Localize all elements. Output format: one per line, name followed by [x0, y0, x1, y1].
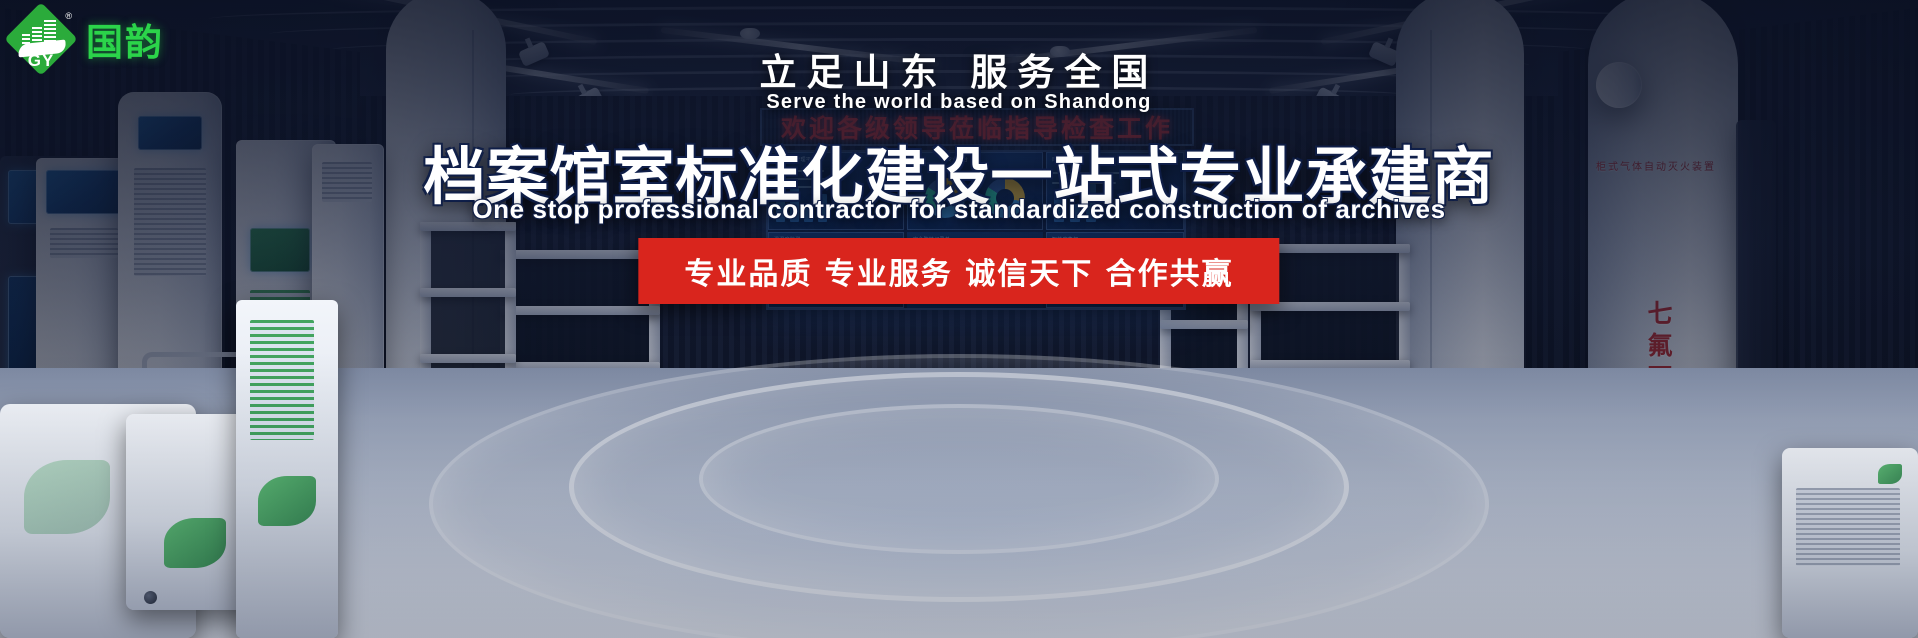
- tagline-english: Serve the world based on Shandong: [0, 91, 1918, 114]
- slogan-bar-text: 专业品质 专业服务 诚信天下 合作共赢: [684, 257, 1233, 292]
- tagline-chinese: 立足山东 服务全国: [0, 42, 1918, 96]
- headline-english: One stop professional contractor for sta…: [0, 194, 1918, 225]
- slogan-bar[interactable]: 专业品质 专业服务 诚信天下 合作共赢: [638, 238, 1279, 304]
- trademark-icon: ®: [65, 11, 72, 21]
- hero-text-overlay: GY ® 国韵 立足山东 服务全国 Serve the world based …: [0, 0, 1918, 638]
- hero-banner: 七氟丙烷 柜式气体自动灭火装置: [0, 0, 1918, 638]
